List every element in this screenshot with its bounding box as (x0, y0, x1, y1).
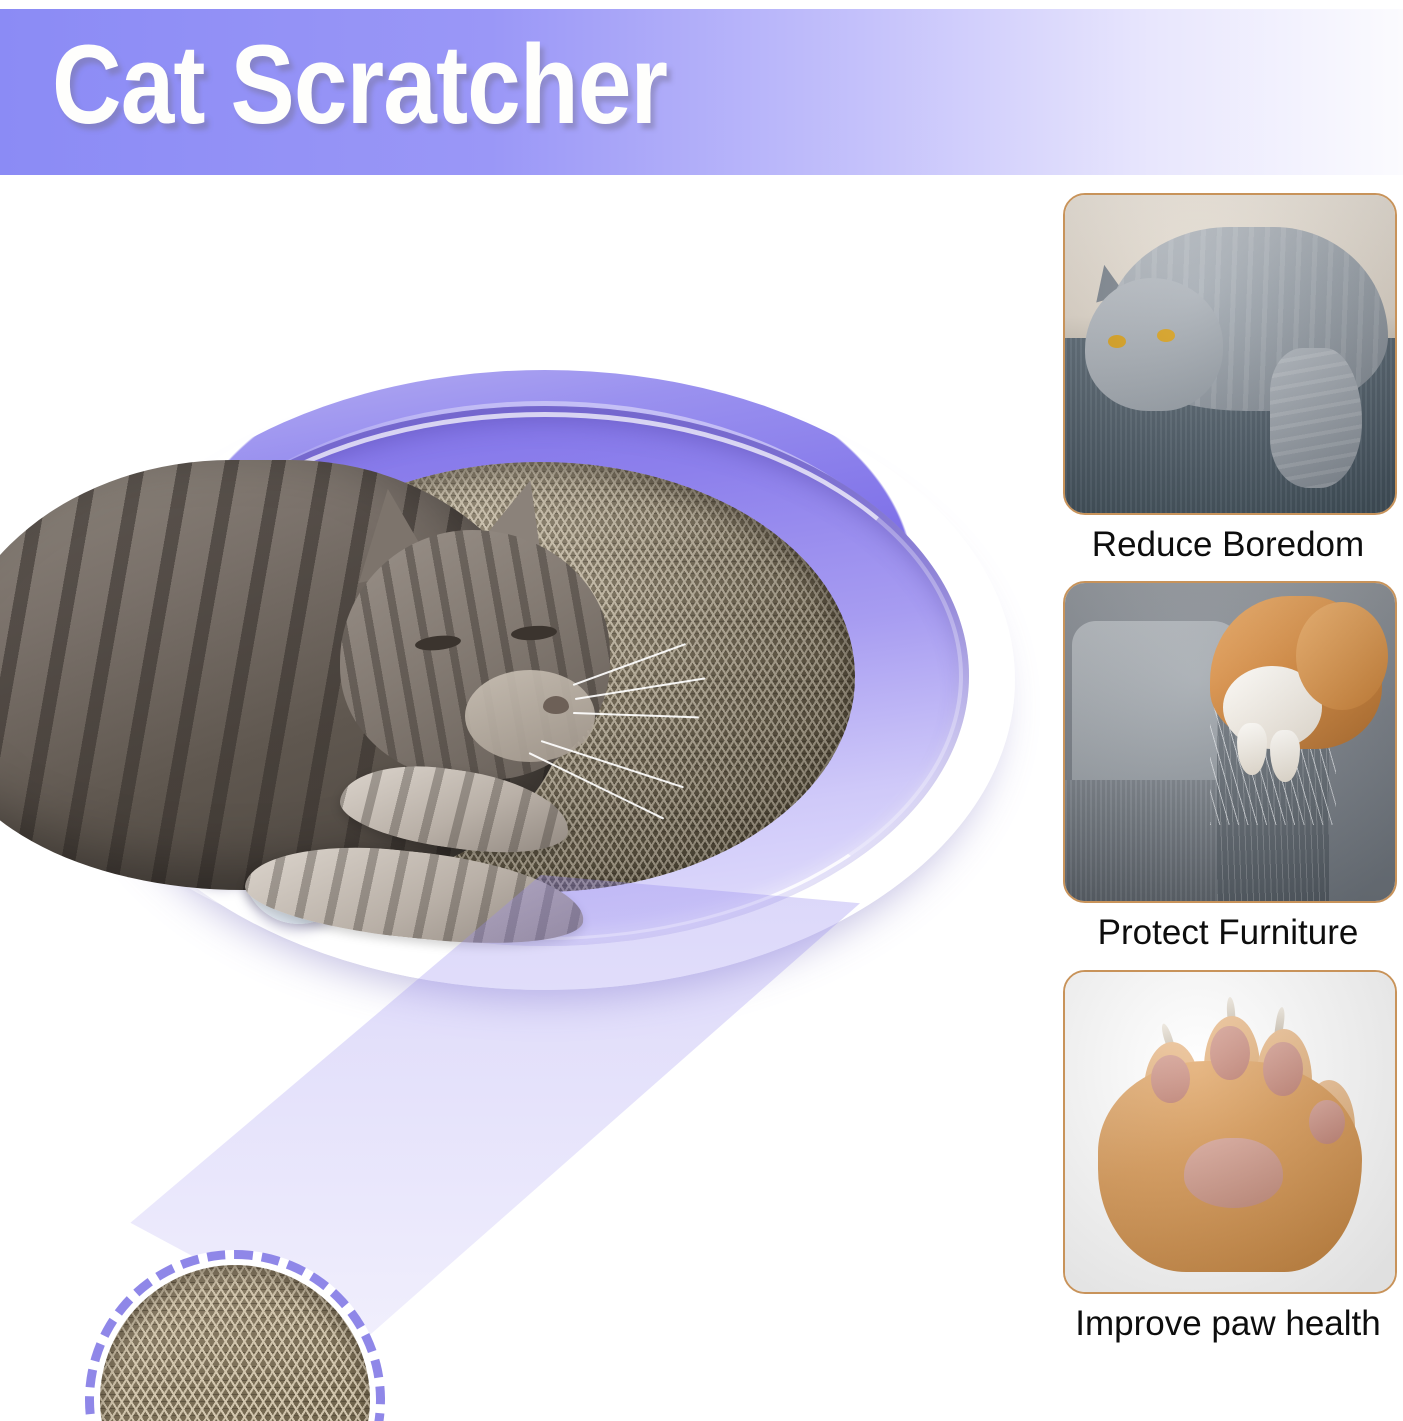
cardboard-detail-circle (85, 1250, 385, 1421)
cat-toe-pad (1151, 1055, 1191, 1103)
tabby-cat-photo (0, 440, 745, 1040)
feature-caption: Improve paw health (1063, 1294, 1393, 1344)
orange-cat-head (1296, 602, 1388, 710)
grey-cat-eye-left (1108, 335, 1126, 348)
cat-front-paw-lower (241, 834, 588, 955)
orange-cat-paw-right (1270, 730, 1300, 782)
cat-whisker (541, 740, 684, 788)
grey-cat-hanging-leg (1270, 348, 1362, 488)
cat-nose (543, 696, 569, 714)
feature-image-frame (1063, 193, 1397, 515)
cat-metacarpal-pad (1184, 1138, 1283, 1208)
feature-caption: Protect Furniture (1063, 903, 1393, 953)
cat-toe-pad (1210, 1026, 1250, 1080)
grey-cat-head (1085, 278, 1224, 412)
feature-card-reduce-boredom[interactable]: Reduce Boredom (1063, 193, 1393, 565)
cat-paw-closeup-image (1065, 972, 1395, 1292)
feature-image-frame (1063, 581, 1397, 903)
feature-card-protect-furniture[interactable]: Protect Furniture (1063, 581, 1393, 953)
feature-image-frame (1063, 970, 1397, 1294)
orange-cat-on-sofa-arm-image (1065, 583, 1395, 901)
feature-caption: Reduce Boredom (1063, 515, 1393, 565)
feature-card-improve-paw-health[interactable]: Improve paw health (1063, 970, 1393, 1344)
hero-product-area (0, 175, 1040, 1421)
cardboard-detail-texture (100, 1265, 370, 1421)
cat-toe-pad (1263, 1042, 1303, 1096)
cat-scratcher-product (75, 370, 1015, 1030)
grey-cat-on-sofa-image (1065, 195, 1395, 513)
grey-cat-eye-right (1157, 329, 1175, 342)
page-title: Cat Scratcher (52, 29, 667, 141)
feature-column: Reduce Boredom Protect Furniture (1063, 193, 1393, 1360)
title-banner: Cat Scratcher (0, 9, 1403, 175)
